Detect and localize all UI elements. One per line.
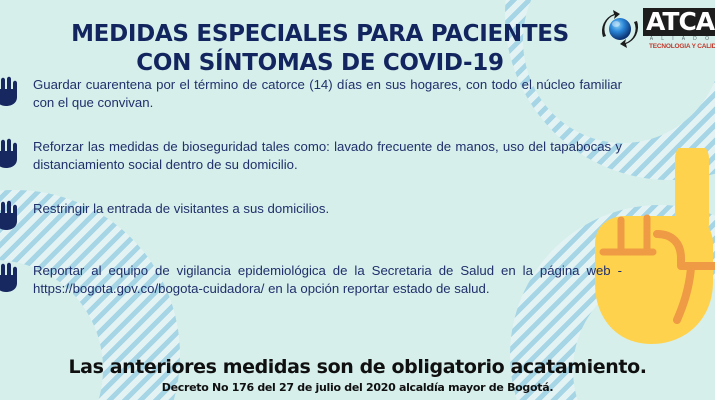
pointing-hand-icon (0, 137, 21, 169)
footer-headline: Las anteriores medidas son de obligatori… (0, 356, 715, 379)
list-item-text: Guardar cuarentena por el término de cat… (33, 76, 622, 112)
footer: Las anteriores medidas son de obligatori… (0, 356, 715, 394)
atcal-brand-text: ATCAL (646, 9, 715, 34)
footer-decree: Decreto No 176 del 27 de julio del 2020 … (0, 381, 715, 394)
list-item-text: Restringir la entrada de visitantes a su… (33, 200, 622, 218)
list-item: Reforzar las medidas de bioseguridad tal… (0, 138, 640, 178)
pointing-hand-icon (0, 261, 21, 293)
atcal-tagline: TECNOLOGIA Y CALIDAD (643, 43, 715, 50)
page-title-line-2: CON SÍNTOMAS DE COVID-19 (0, 49, 640, 78)
atcal-brand-box: ATCAL (643, 8, 715, 36)
atcal-logo: ATCAL A L I A D O S TECNOLOGIA Y CALIDAD (595, 2, 715, 56)
list-item-text: Reportar al equipo de vigilancia epidemi… (33, 262, 622, 298)
page-title-line-1: MEDIDAS ESPECIALES PARA PACIENTES (0, 20, 640, 49)
pointing-hand-icon (0, 199, 21, 231)
page-title: MEDIDAS ESPECIALES PARA PACIENTES CON SÍ… (0, 20, 640, 78)
measures-list: Guardar cuarentena por el término de cat… (0, 76, 640, 324)
atcal-subtitle: A L I A D O S (643, 36, 715, 43)
blue-sphere-refresh-icon (595, 5, 645, 53)
pointing-hand-icon (0, 75, 21, 107)
atcal-wordmark: ATCAL A L I A D O S TECNOLOGIA Y CALIDAD (643, 8, 715, 50)
list-item-text: Reforzar las medidas de bioseguridad tal… (33, 138, 622, 174)
covid-measures-poster: ATCAL A L I A D O S TECNOLOGIA Y CALIDAD… (0, 0, 715, 400)
list-item: Restringir la entrada de visitantes a su… (0, 200, 640, 240)
list-item: Guardar cuarentena por el término de cat… (0, 76, 640, 116)
list-item: Reportar al equipo de vigilancia epidemi… (0, 262, 640, 302)
